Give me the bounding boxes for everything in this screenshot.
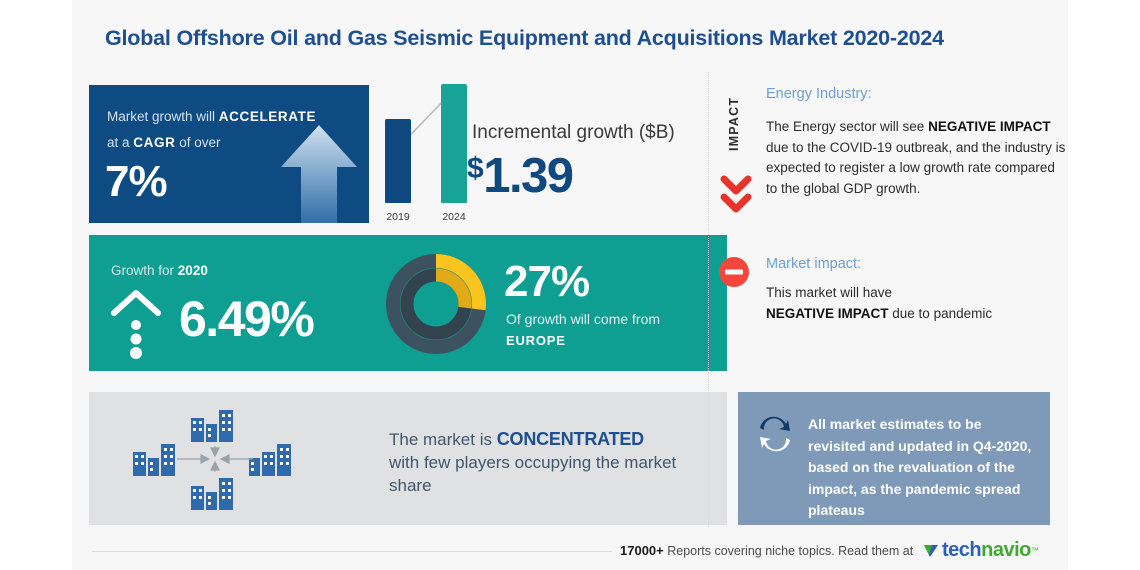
currency-symbol: $	[467, 152, 482, 185]
buildings-converging-icon	[131, 406, 299, 512]
energy-negative-impact: NEGATIVE IMPACT	[928, 119, 1051, 134]
market-impact-heading: Market impact:	[766, 256, 861, 272]
bar-2019	[385, 119, 411, 203]
incremental-number: 1.39	[483, 149, 572, 203]
technavio-logo[interactable]: technavio™	[923, 538, 1039, 562]
bar-label-2024: 2024	[435, 211, 473, 223]
column-divider	[708, 72, 710, 527]
energy-industry-body: The Energy sector will see NEGATIVE IMPA…	[766, 117, 1066, 199]
cagr-line1-text: Market growth will	[107, 109, 215, 124]
page-title: Global Offshore Oil and Gas Seismic Equi…	[105, 26, 1045, 51]
up-arrow-icon	[279, 123, 359, 223]
impact-vertical-label: IMPACT	[723, 84, 745, 164]
growth-for-year: 2020	[178, 263, 208, 278]
cagr-line2-pre: at a	[107, 135, 130, 150]
infographic-canvas: Global Offshore Oil and Gas Seismic Equi…	[0, 0, 1140, 570]
incremental-growth-label: Incremental growth ($B)	[472, 122, 675, 144]
cagr-line-2: at a CAGR of over	[107, 135, 221, 150]
footer-rule	[92, 551, 612, 552]
market-impact-body: This market will have NEGATIVE IMPACT du…	[766, 283, 1066, 324]
incremental-growth-value: $1.39	[467, 148, 573, 204]
cagr-accelerate-word: ACCELERATE	[219, 109, 316, 124]
revision-panel: All market estimates to be revisited and…	[738, 392, 1050, 525]
chevron-up-dots-icon	[109, 287, 163, 359]
cagr-panel: Market growth will ACCELERATE at a CAGR …	[89, 85, 369, 223]
region-share-value: 27%	[504, 257, 589, 307]
growth-panel: Growth for 2020 6.49% 27% Of	[89, 235, 727, 371]
cagr-value: 7%	[105, 157, 167, 207]
region-name: EUROPE	[506, 333, 566, 348]
concentration-panel: The market is CONCENTRATED with few play…	[89, 392, 727, 525]
double-chevron-down-icon	[720, 175, 752, 221]
cagr-line-1: Market growth will ACCELERATE	[107, 109, 316, 124]
energy-body-pre: The Energy sector will see	[766, 119, 924, 134]
cagr-word: CAGR	[133, 135, 175, 150]
cagr-line2-post: of over	[179, 135, 220, 150]
growth-bar-chart: 2019 2024	[379, 85, 479, 225]
donut-chart-icon	[381, 249, 491, 359]
bar-label-2019: 2019	[379, 211, 417, 223]
refresh-cycle-icon	[755, 414, 795, 454]
energy-industry-heading: Energy Industry:	[766, 86, 872, 102]
market-negative-impact: NEGATIVE IMPACT	[766, 306, 889, 321]
footer-caption: Reports covering niche topics. Read them…	[667, 544, 913, 558]
infographic-page: Global Offshore Oil and Gas Seismic Equi…	[72, 0, 1068, 570]
technavio-flag-icon	[923, 542, 940, 559]
no-entry-icon	[718, 256, 750, 288]
market-body-pre: This market will have	[766, 285, 892, 300]
bar-2024	[441, 84, 467, 203]
market-body-post: due to pandemic	[892, 306, 992, 321]
logo-text-tech: tech	[942, 539, 981, 562]
energy-body-post: due to the COVID-19 outbreak, and the in…	[766, 140, 1065, 196]
growth-value: 6.49%	[179, 290, 313, 348]
growth-for-text: Growth for	[111, 263, 174, 278]
region-share-sub: Of growth will come from	[506, 311, 660, 327]
logo-trademark: ™	[1031, 546, 1039, 555]
concentration-text: The market is CONCENTRATED with few play…	[389, 428, 709, 497]
revision-text: All market estimates to be revisited and…	[808, 414, 1033, 522]
concentration-keyword: CONCENTRATED	[497, 429, 644, 449]
concentration-pre: The market is	[389, 430, 492, 449]
footer-report-count: 17000+	[620, 543, 664, 558]
footer-text: 17000+ Reports covering niche topics. Re…	[620, 543, 913, 558]
logo-text-navio: navio	[981, 539, 1031, 562]
growth-for-label: Growth for 2020	[111, 263, 208, 278]
concentration-post: with few players occupying the market sh…	[389, 453, 676, 495]
